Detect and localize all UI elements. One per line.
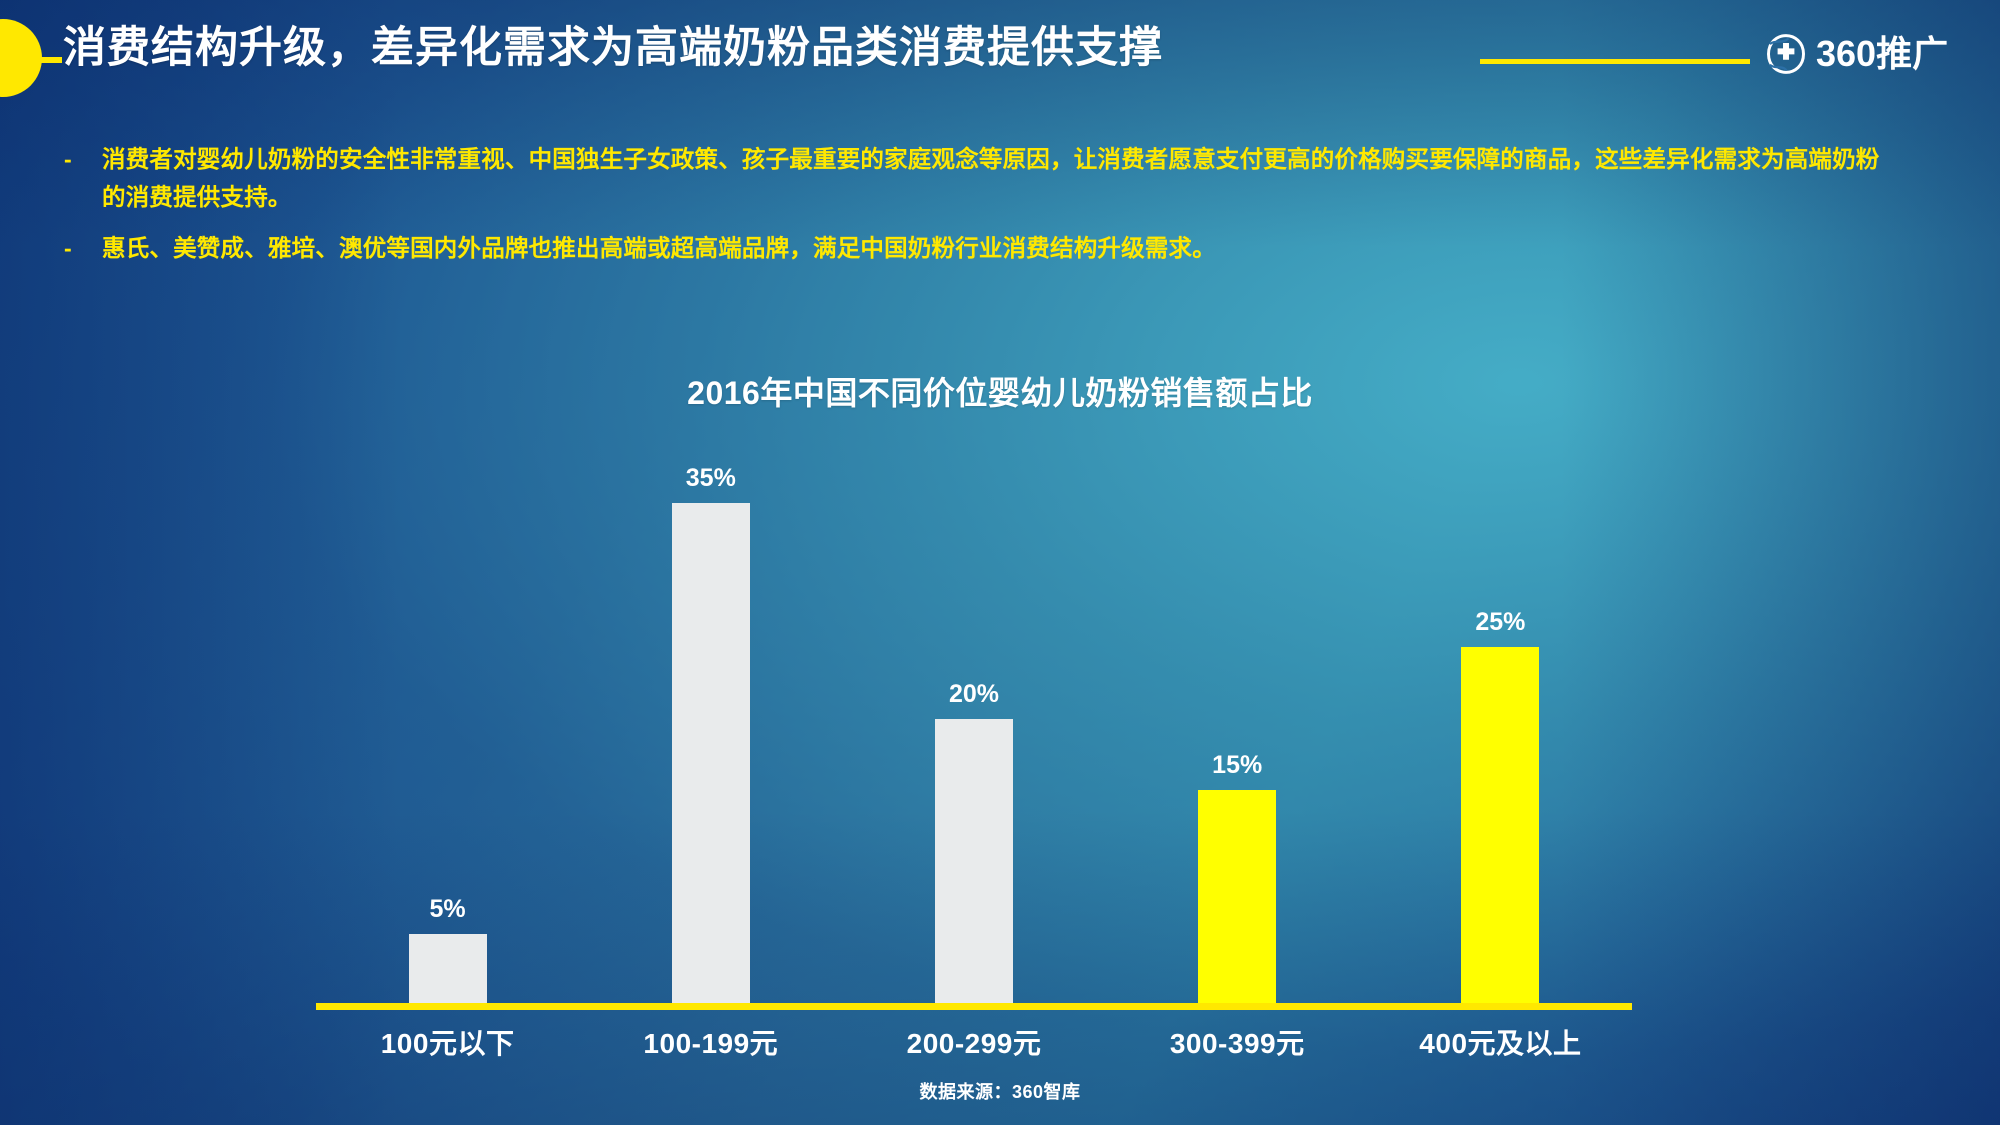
bar — [672, 503, 750, 1006]
bullet-item: - 消费者对婴幼儿奶粉的安全性非常重视、中国独生子女政策、孩子最重要的家庭观念等… — [58, 140, 1958, 216]
chart-title: 2016年中国不同价位婴幼儿奶粉销售额占比 — [0, 368, 2000, 414]
brand-logo: 360推广 — [1765, 33, 1948, 75]
bar-value-label: 5% — [430, 895, 466, 924]
bar-value-label: 25% — [1475, 608, 1525, 637]
bullet-marker: - — [58, 229, 102, 267]
bar-group: 25% — [1369, 460, 1632, 1006]
bar-group: 20% — [842, 460, 1105, 1006]
header-rule — [1480, 59, 1750, 64]
bar — [409, 934, 487, 1006]
bullet-text: 消费者对婴幼儿奶粉的安全性非常重视、中国独生子女政策、孩子最重要的家庭观念等原因… — [102, 140, 1892, 216]
chart-source-note: 数据来源：360智库 — [0, 1078, 2000, 1104]
bullet-item: - 惠氏、美赞成、雅培、澳优等国内外品牌也推出高端或超高端品牌，满足中国奶粉行业… — [58, 229, 1958, 267]
bar-group: 35% — [579, 460, 842, 1006]
category-label: 400元及以上 — [1369, 1022, 1632, 1062]
page-title: 消费结构升级，差异化需求为高端奶粉品类消费提供支撑 — [63, 22, 1163, 74]
header-accent-dash — [30, 57, 62, 63]
bar — [1461, 647, 1539, 1006]
bar — [1198, 790, 1276, 1006]
bar-group: 15% — [1106, 460, 1369, 1006]
bar-value-label: 35% — [686, 464, 736, 493]
category-label: 200-299元 — [842, 1022, 1105, 1062]
bar-value-label: 15% — [1212, 751, 1262, 780]
bullet-list: - 消费者对婴幼儿奶粉的安全性非常重视、中国独生子女政策、孩子最重要的家庭观念等… — [58, 140, 1958, 280]
bullet-marker: - — [58, 140, 102, 178]
chart-category-axis: 100元以下 100-199元 200-299元 300-399元 400元及以… — [316, 1022, 1632, 1062]
chart-axis-line — [316, 1003, 1632, 1010]
bullet-text: 惠氏、美赞成、雅培、澳优等国内外品牌也推出高端或超高端品牌，满足中国奶粉行业消费… — [102, 229, 1216, 267]
bar-value-label: 20% — [949, 680, 999, 709]
brand-name: 360推广 — [1816, 36, 1948, 72]
category-label: 300-399元 — [1106, 1022, 1369, 1062]
bar-chart-plot-area: 5%35%20%15%25% — [316, 460, 1632, 1006]
360-shield-plus-icon — [1765, 33, 1807, 75]
category-label: 100元以下 — [316, 1022, 579, 1062]
bar — [935, 719, 1013, 1006]
category-label: 100-199元 — [579, 1022, 842, 1062]
bar-group: 5% — [316, 460, 579, 1006]
